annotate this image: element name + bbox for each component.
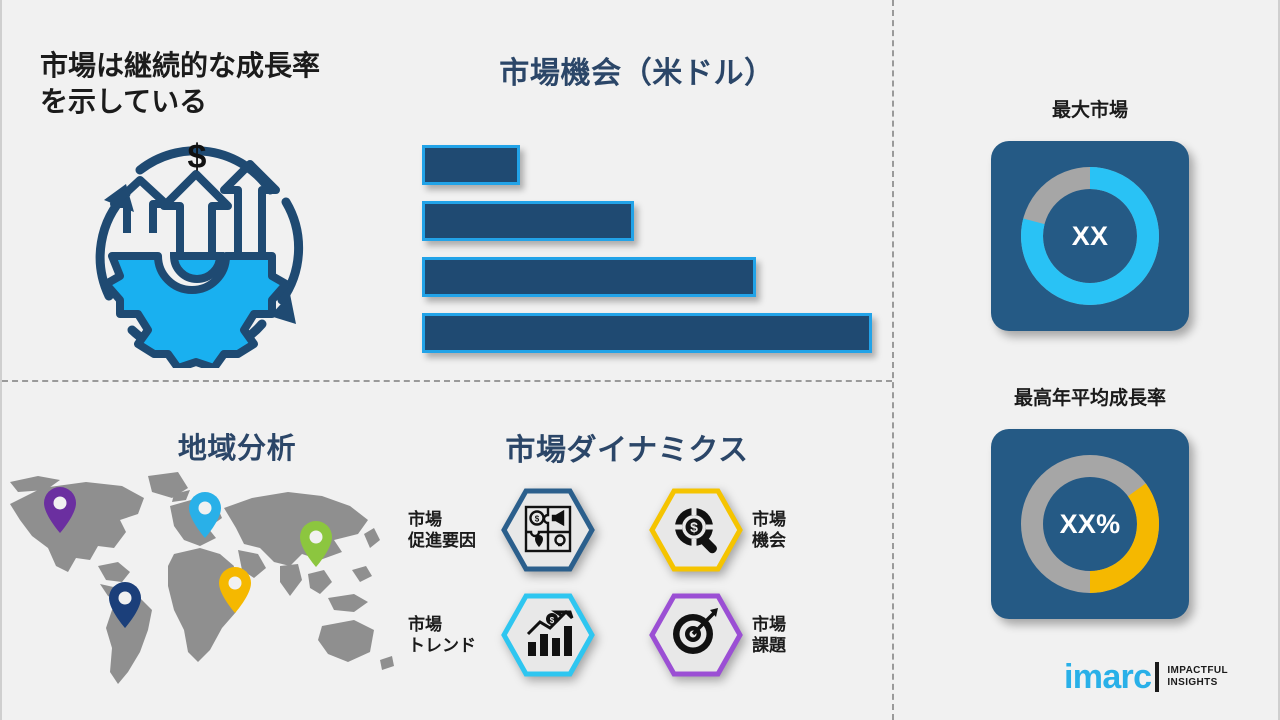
bar-2 [422, 201, 634, 241]
bar-3 [422, 257, 756, 297]
vertical-divider [892, 0, 894, 720]
dollar-symbol: $ [188, 138, 207, 176]
cagr-title: 最高年平均成長率 [960, 383, 1220, 410]
logo-tagline: IMPACTFUL INSIGHTS [1167, 665, 1228, 690]
cagr-value: XX% [1060, 509, 1121, 540]
dynamics-label-challenges: 市場 課題 [752, 614, 832, 657]
bar-1 [422, 145, 520, 185]
map-pin-asia [300, 521, 332, 567]
dynamics-label-opportunity: 市場 機会 [752, 509, 832, 552]
dynamics-item-drivers[interactable]: 市場 促進要因 $ [408, 487, 596, 573]
svg-text:$: $ [550, 616, 555, 625]
opportunity-bar-chart [420, 145, 880, 355]
world-map [2, 462, 402, 700]
dynamics-hex-opportunity: $ [648, 487, 744, 573]
opportunity-title: 市場機会（米ドル） [422, 48, 852, 92]
cagr-donut-card: XX% [991, 429, 1189, 619]
imarc-logo: imarc IMPACTFUL INSIGHTS [1064, 660, 1228, 694]
largest-market-title: 最大市場 [960, 95, 1220, 122]
region-title: 地域分析 [102, 425, 372, 467]
slide-canvas: 市場は継続的な成長率 を示している $ 市場機会（米ドル） [0, 0, 1280, 720]
bar-row [420, 313, 880, 355]
bar-row [420, 201, 880, 243]
dynamics-label-drivers: 市場 促進要因 [408, 509, 500, 552]
dynamics-hex-drivers: $ [500, 487, 596, 573]
dynamics-item-opportunity[interactable]: $ 市場 機会 [648, 487, 832, 573]
largest-market-value: XX [1072, 221, 1109, 252]
logo-tagline-line2: INSIGHTS [1167, 677, 1228, 690]
logo-wordmark: imarc [1064, 660, 1151, 694]
largest-market-donut-card: XX [991, 141, 1189, 331]
svg-text:$: $ [690, 519, 698, 535]
dynamics-title: 市場ダイナミクス [432, 425, 822, 469]
dynamics-hex-challenges [648, 592, 744, 678]
bar-row [420, 145, 880, 187]
logo-divider [1155, 662, 1159, 692]
dynamics-label-trends: 市場 トレンド [408, 614, 500, 657]
dynamics-item-trends[interactable]: 市場 トレンド $ [408, 592, 596, 678]
growth-title: 市場は継続的な成長率 を示している [40, 48, 380, 121]
growth-cycle-gear-icon: $ [74, 128, 320, 368]
logo-tagline-line1: IMPACTFUL [1167, 665, 1228, 678]
bar-4 [422, 313, 872, 353]
horizontal-divider [2, 380, 892, 382]
bar-row [420, 257, 880, 299]
svg-text:$: $ [535, 515, 540, 524]
dynamics-item-challenges[interactable]: 市場 課題 [648, 592, 832, 678]
dynamics-hex-trends: $ [500, 592, 596, 678]
